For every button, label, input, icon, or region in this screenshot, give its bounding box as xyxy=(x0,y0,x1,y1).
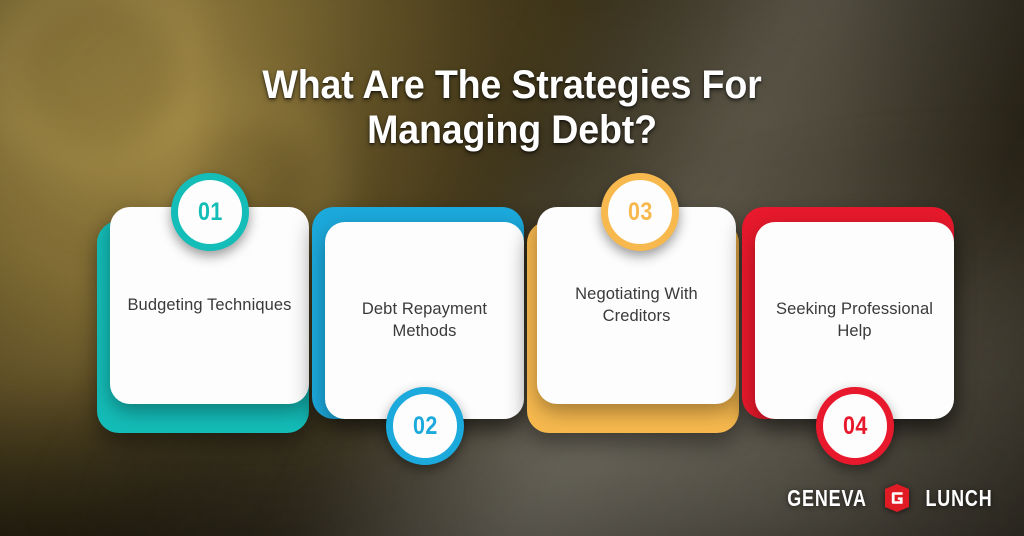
card-3-number-badge: 03 xyxy=(601,173,679,251)
card-4-number-badge: 04 xyxy=(816,387,894,465)
card-3-number: 03 xyxy=(628,198,653,227)
card-2-label: Debt Repayment Methods xyxy=(325,299,524,343)
strategy-card-4[interactable]: Seeking Professional Help 04 xyxy=(742,207,954,419)
card-2-number-badge: 02 xyxy=(386,387,464,465)
strategy-card-2[interactable]: Debt Repayment Methods 02 xyxy=(312,207,524,419)
card-1-label: Budgeting Techniques xyxy=(113,295,305,317)
page-title-line-2: Managing Debt? xyxy=(31,108,994,154)
infographic-canvas: What Are The Strategies For Managing Deb… xyxy=(0,0,1024,536)
card-1-number: 01 xyxy=(198,198,223,227)
card-1-number-badge: 01 xyxy=(171,173,249,251)
card-3-label: Negotiating With Creditors xyxy=(537,284,736,328)
brand-logo[interactable]: GENEVA LUNCH xyxy=(776,484,1002,512)
page-title: What Are The Strategies For Managing Deb… xyxy=(31,63,994,154)
brand-logo-word-left: GENEVA xyxy=(787,485,867,512)
geneva-g-hexagon-icon xyxy=(885,484,909,512)
card-2-number: 02 xyxy=(413,412,438,441)
page-title-line-1: What Are The Strategies For xyxy=(31,63,994,109)
strategy-card-3[interactable]: Negotiating With Creditors 03 xyxy=(527,207,739,419)
brand-logo-word-right: LUNCH xyxy=(925,485,992,512)
card-4-number: 04 xyxy=(843,412,868,441)
strategy-card-1[interactable]: Budgeting Techniques 01 xyxy=(97,207,309,419)
card-4-label: Seeking Professional Help xyxy=(755,299,954,343)
